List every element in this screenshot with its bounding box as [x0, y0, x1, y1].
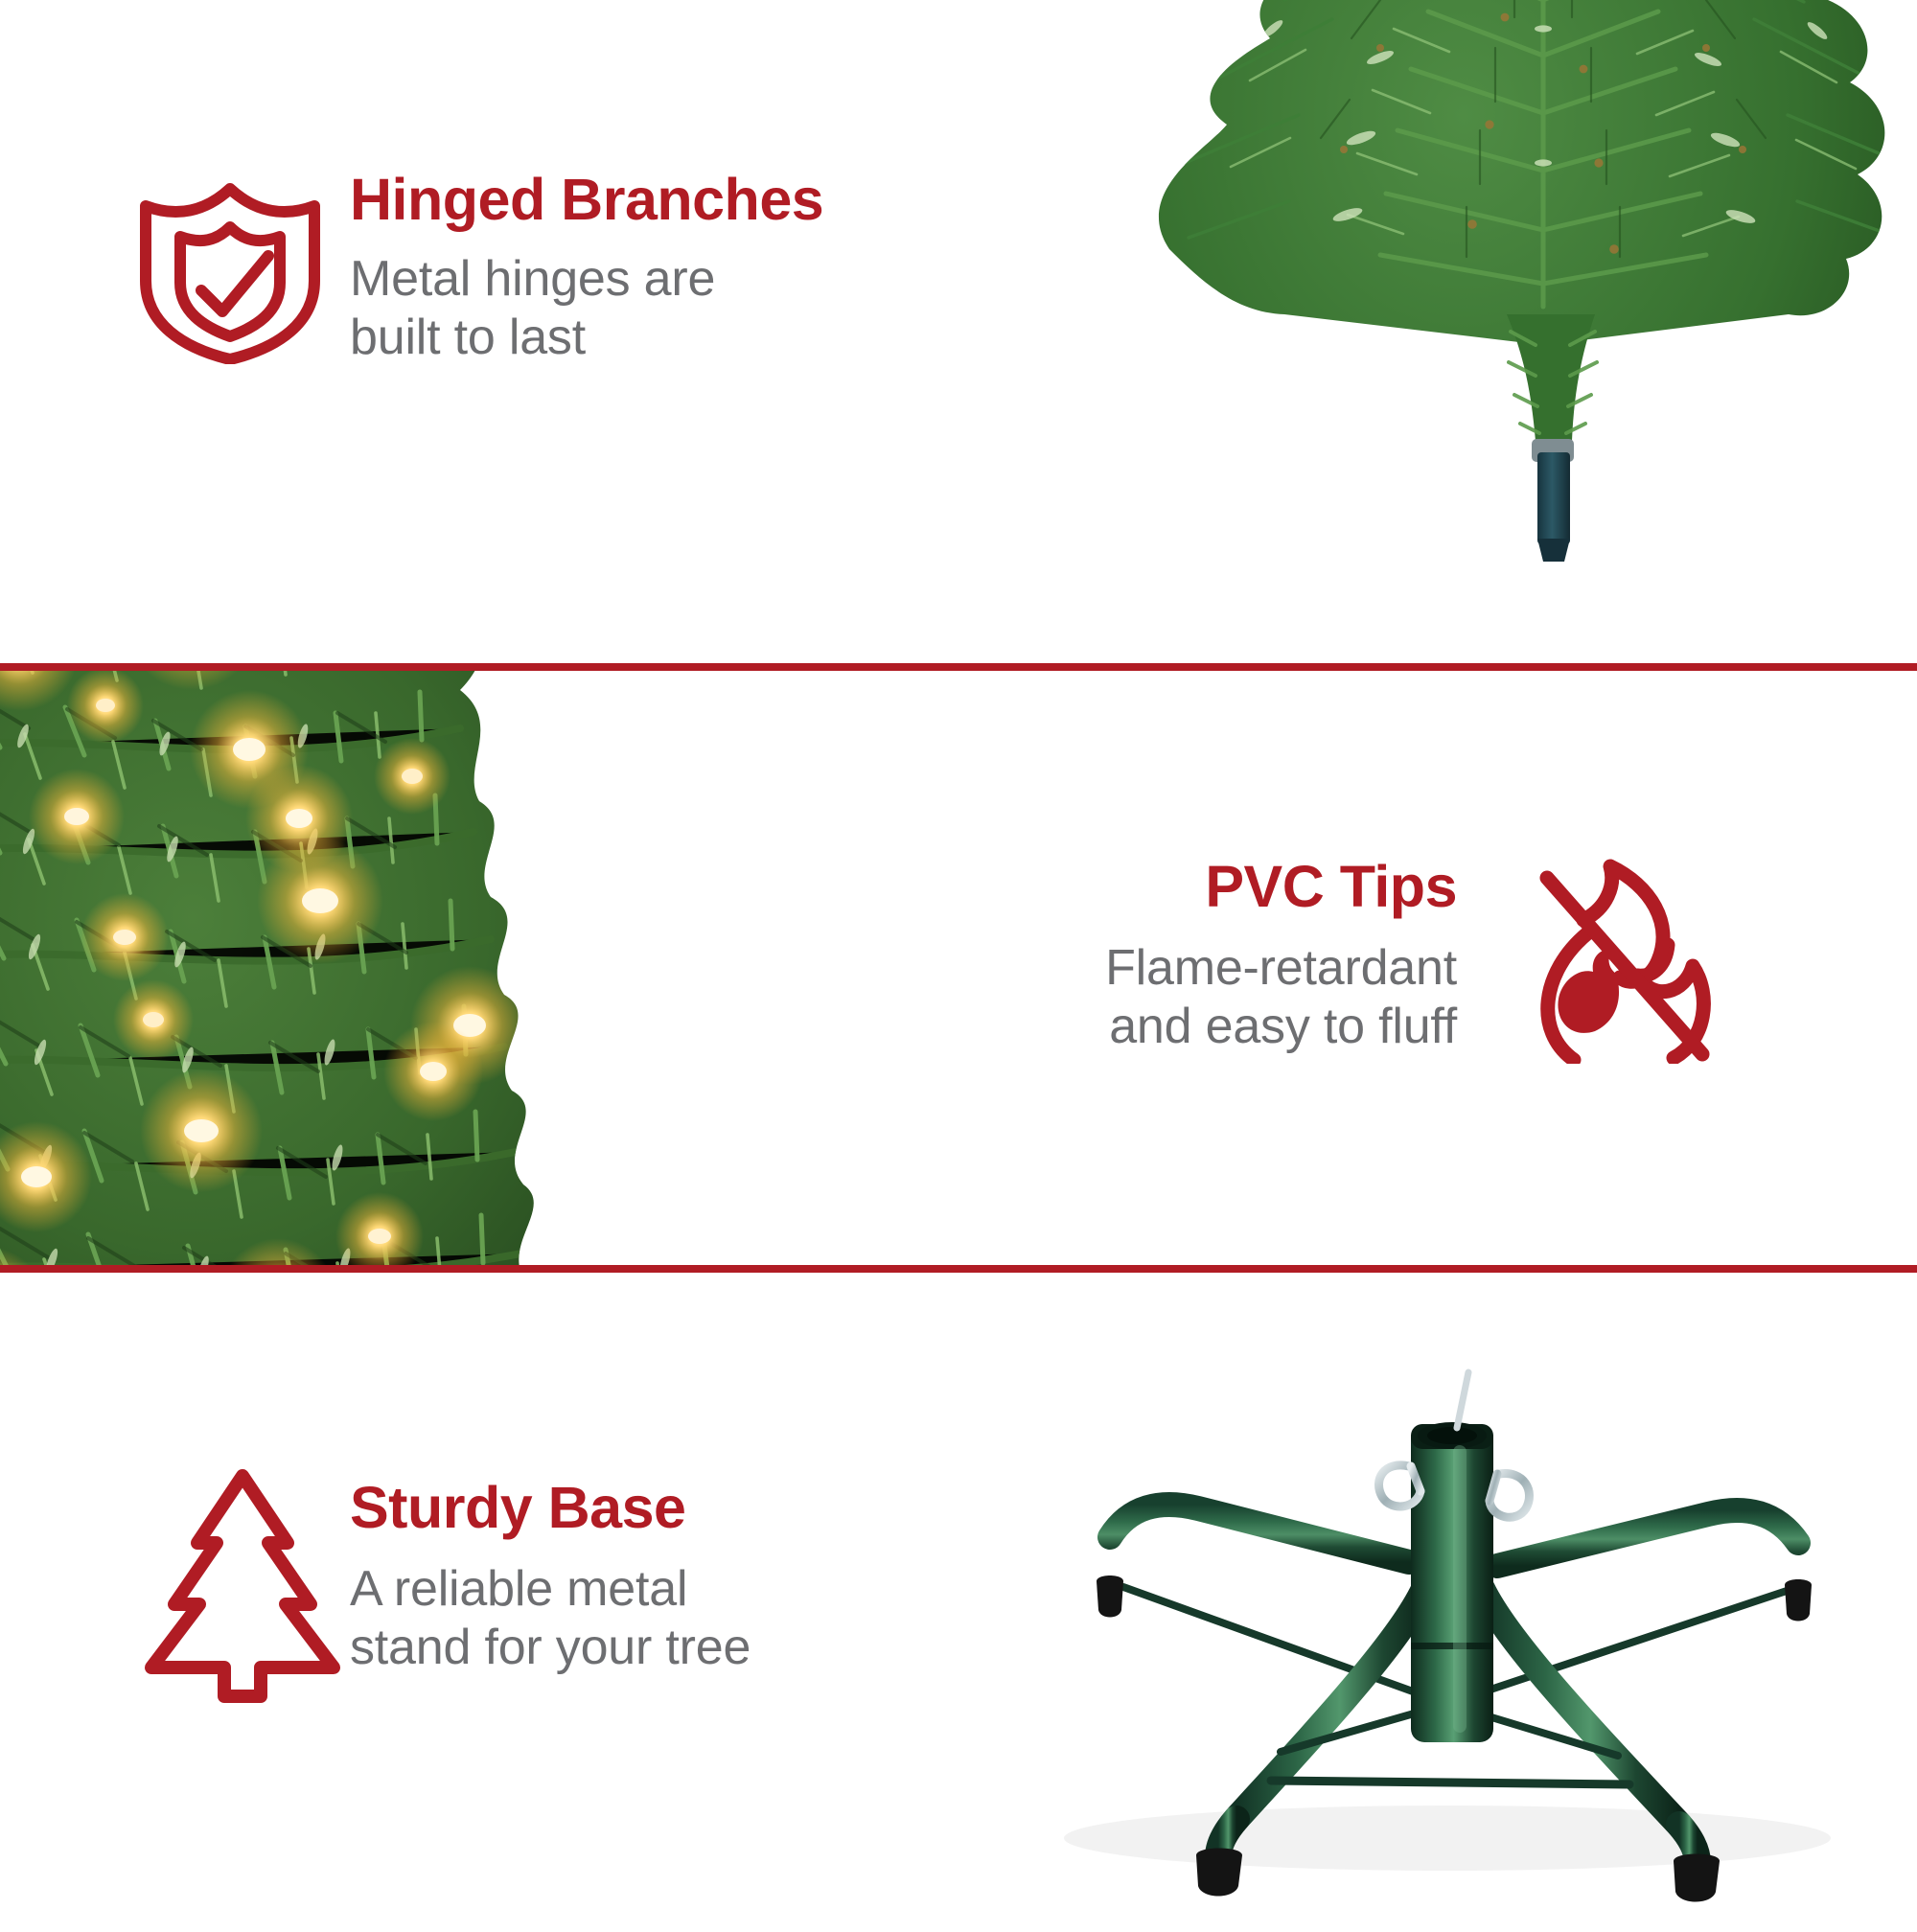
- feature-text-pvc-tips: PVC Tips Flame-retardant and easy to flu…: [613, 858, 1457, 1057]
- feature-title: Sturdy Base: [350, 1479, 751, 1537]
- feature-title: Hinged Branches: [350, 171, 823, 229]
- christmas-tree-icon-glyph: [142, 1464, 343, 1704]
- no-flame-icon: [1524, 853, 1725, 1064]
- prelit-tree-closeup-photo: [0, 671, 633, 1265]
- section-divider: [0, 663, 1917, 671]
- feature-description: Flame-retardant and easy to fluff: [613, 939, 1457, 1057]
- feature-panel-hinged-branches: Hinged Branches Metal hinges are built t…: [0, 0, 1917, 663]
- feature-title: PVC Tips: [613, 858, 1457, 916]
- feature-description-line: built to last: [350, 309, 823, 367]
- feature-description-line: and easy to fluff: [613, 998, 1457, 1056]
- feature-text-sturdy-base: Sturdy Base A reliable metal stand for y…: [350, 1479, 751, 1678]
- feature-description-line: stand for your tree: [350, 1619, 751, 1677]
- artificial-tree-branch-top-photo: [1093, 0, 1917, 663]
- feature-description: A reliable metal stand for your tree: [350, 1560, 751, 1678]
- feature-panel-sturdy-base: Sturdy Base A reliable metal stand for y…: [0, 1273, 1917, 1932]
- infographic-page: Hinged Branches Metal hinges are built t…: [0, 0, 1917, 1917]
- feature-description-line: Flame-retardant: [613, 939, 1457, 998]
- feature-description-line: A reliable metal: [350, 1560, 751, 1619]
- metal-tree-stand-photo: [997, 1301, 1917, 1915]
- feature-panel-pvc-tips: PVC Tips Flame-retardant and easy to flu…: [0, 671, 1917, 1265]
- shield-check-icon: [134, 168, 326, 364]
- section-divider: [0, 1265, 1917, 1273]
- feature-description-line: Metal hinges are: [350, 250, 823, 309]
- feature-description: Metal hinges are built to last: [350, 250, 823, 368]
- feature-text-hinged-branches: Hinged Branches Metal hinges are built t…: [350, 171, 823, 368]
